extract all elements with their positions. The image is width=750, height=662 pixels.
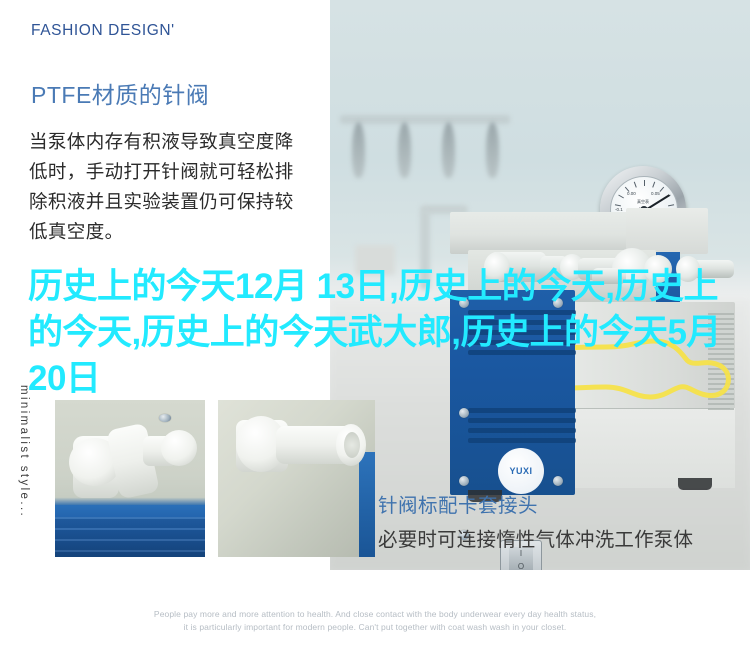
gauge-brand-label: 真空表: [637, 199, 649, 205]
brand-badge: YUXI: [498, 448, 544, 494]
pump-top-plate-right: [626, 208, 708, 254]
caption-title: 针阀标配卡套接头: [378, 489, 693, 518]
detail-photo-right: [218, 400, 375, 557]
product-caption: 针阀标配卡套接头 必要时可连接惰性气体冲洗工作泵体: [378, 489, 693, 552]
screw-icon: [459, 408, 469, 418]
promo-canvas: 0.00 0.05 0.10 -0.1 真空表 MPa: [0, 0, 750, 662]
footer-line-1: People pay more and more attention to he…: [0, 608, 750, 621]
screw-icon: [459, 476, 469, 486]
photo-background-rail: [340, 115, 510, 124]
overlay-headline: 历史上的今天12月 13日,历史上的今天,历史上的今天,历史上的今天武大郎,历史…: [28, 264, 728, 402]
photo-background-utensil: [352, 122, 365, 178]
caption-subtitle: 必要时可连接惰性气体冲洗工作泵体: [378, 523, 693, 552]
screw-icon: [553, 476, 563, 486]
vertical-style-note: minimalist style...: [18, 385, 30, 518]
gauge-tick-label: 0.00: [627, 191, 636, 196]
footer-line-2: it is particularly important for modern …: [0, 621, 750, 634]
gauge-tick-label: 0.05: [651, 191, 660, 196]
photo-background-utensil: [398, 122, 411, 178]
body-paragraph: 当泵体内存有积液导致真空度降低时，手动打开针阀就可轻松排除积液并且实验装置仍可保…: [29, 127, 297, 247]
detail-photo-left: [55, 400, 205, 557]
power-switch-off-label: O: [509, 560, 533, 570]
page-title: PTFE材质的针阀: [31, 76, 209, 110]
screw-icon: [159, 414, 171, 422]
footer-note: People pay more and more attention to he…: [0, 608, 750, 634]
kicker-label: FASHION DESIGN': [31, 22, 175, 40]
